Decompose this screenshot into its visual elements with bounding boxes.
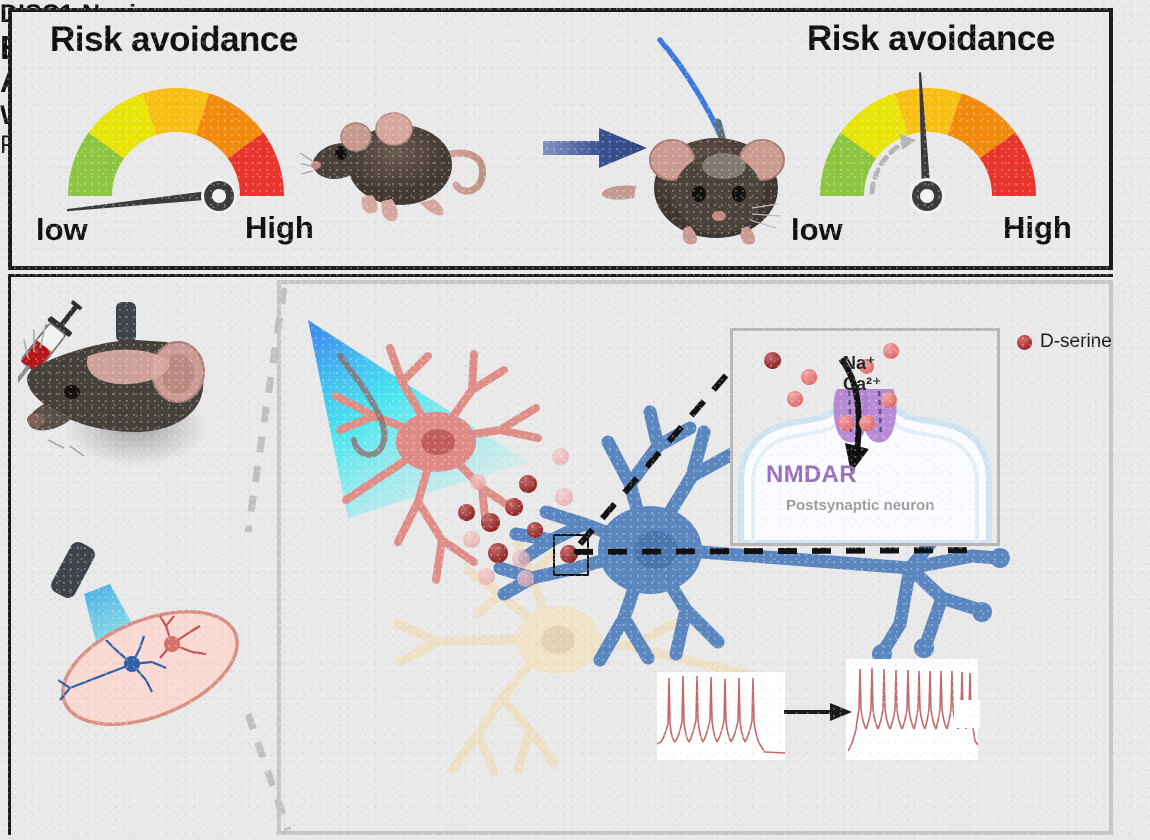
- synapse-callout-box: [553, 534, 589, 576]
- left-gauge-low-label: low: [36, 212, 88, 248]
- right-gauge-low-label: low: [791, 212, 843, 248]
- calcium-ion-label: Ca²⁺: [843, 374, 882, 394]
- d-serine-legend-dot: [1017, 335, 1032, 350]
- ion-species-label: Na⁺ Ca²⁺: [843, 353, 882, 394]
- left-gauge-needle: [54, 74, 298, 206]
- right-gauge-high-label: High: [1003, 210, 1072, 246]
- bla-slice-icon: [40, 528, 260, 748]
- sodium-ion-label: Na⁺: [843, 353, 876, 373]
- d-serine-legend-label: D-serine: [1040, 331, 1112, 353]
- ephys-transition-arrow: [784, 700, 854, 724]
- ephys-trace-before: [657, 672, 785, 760]
- trace-after-mask: [954, 700, 980, 728]
- postsynaptic-neuron-label: Postsynaptic neuron: [786, 497, 934, 514]
- figure-canvas: Risk avoidance low High DISC1-N mice: [0, 0, 1150, 835]
- right-gauge-title: Risk avoidance: [807, 19, 1055, 59]
- stereotaxic-injection-icon: [18, 300, 228, 500]
- right-gauge-needle: [806, 74, 1050, 206]
- left-gauge-title: Risk avoidance: [50, 20, 298, 60]
- nmdar-label: NMDAR: [766, 461, 857, 489]
- mouse-icon: [300, 95, 510, 235]
